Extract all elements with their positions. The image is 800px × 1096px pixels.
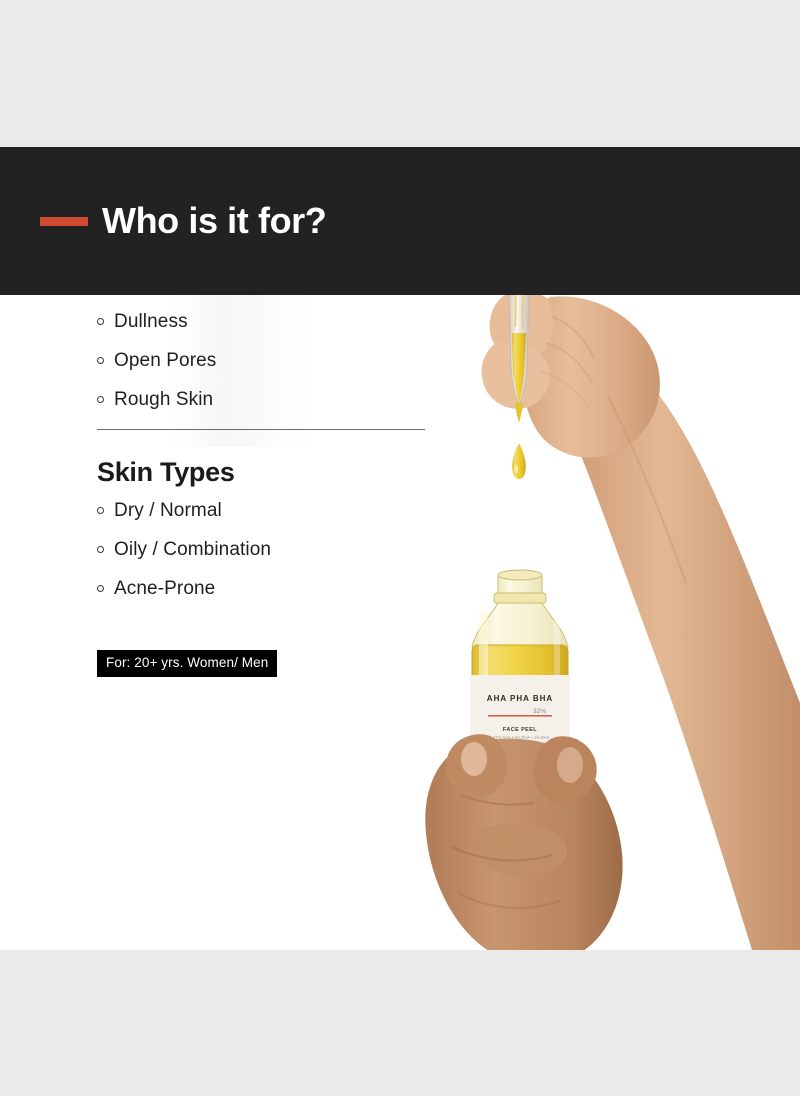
accent-dash-icon bbox=[40, 217, 88, 226]
svg-text:32%: 32% bbox=[533, 708, 546, 715]
svg-text:AHA PHA BHA: AHA PHA BHA bbox=[487, 694, 553, 703]
skin-types-heading: Skin Types bbox=[97, 458, 457, 488]
section-divider bbox=[97, 429, 425, 430]
svg-text:FACE PEEL: FACE PEEL bbox=[503, 727, 537, 733]
ring-bullet-icon bbox=[97, 318, 104, 325]
list-item: Oily / Combination bbox=[97, 540, 457, 559]
list-item-label: Open Pores bbox=[114, 351, 216, 370]
list-item-label: Acne-Prone bbox=[114, 579, 215, 598]
section-header: Who is it for? bbox=[0, 147, 800, 295]
audience-badge: For: 20+ yrs. Women/ Men bbox=[97, 650, 277, 677]
page-title: Who is it for? bbox=[102, 203, 326, 239]
list-item: Rough Skin bbox=[97, 390, 457, 409]
ring-bullet-icon bbox=[97, 585, 104, 592]
ring-bullet-icon bbox=[97, 546, 104, 553]
list-item: Dry / Normal bbox=[97, 501, 457, 520]
lower-hand bbox=[425, 734, 622, 950]
ring-bullet-icon bbox=[97, 396, 104, 403]
product-info-card: AHA PHA BHA 32% FACE PEEL • 17% AHA • 5%… bbox=[0, 0, 800, 1096]
list-item-label: Dullness bbox=[114, 312, 188, 331]
list-item-label: Oily / Combination bbox=[114, 540, 271, 559]
skin-types-list: Dry / Normal Oily / Combination Acne-Pro… bbox=[97, 501, 457, 598]
ring-bullet-icon bbox=[97, 507, 104, 514]
list-item: Dullness bbox=[97, 312, 457, 331]
list-item-label: Dry / Normal bbox=[114, 501, 222, 520]
list-item: Open Pores bbox=[97, 351, 457, 370]
list-item-label: Rough Skin bbox=[114, 390, 213, 409]
list-item: Acne-Prone bbox=[97, 579, 457, 598]
ring-bullet-icon bbox=[97, 357, 104, 364]
